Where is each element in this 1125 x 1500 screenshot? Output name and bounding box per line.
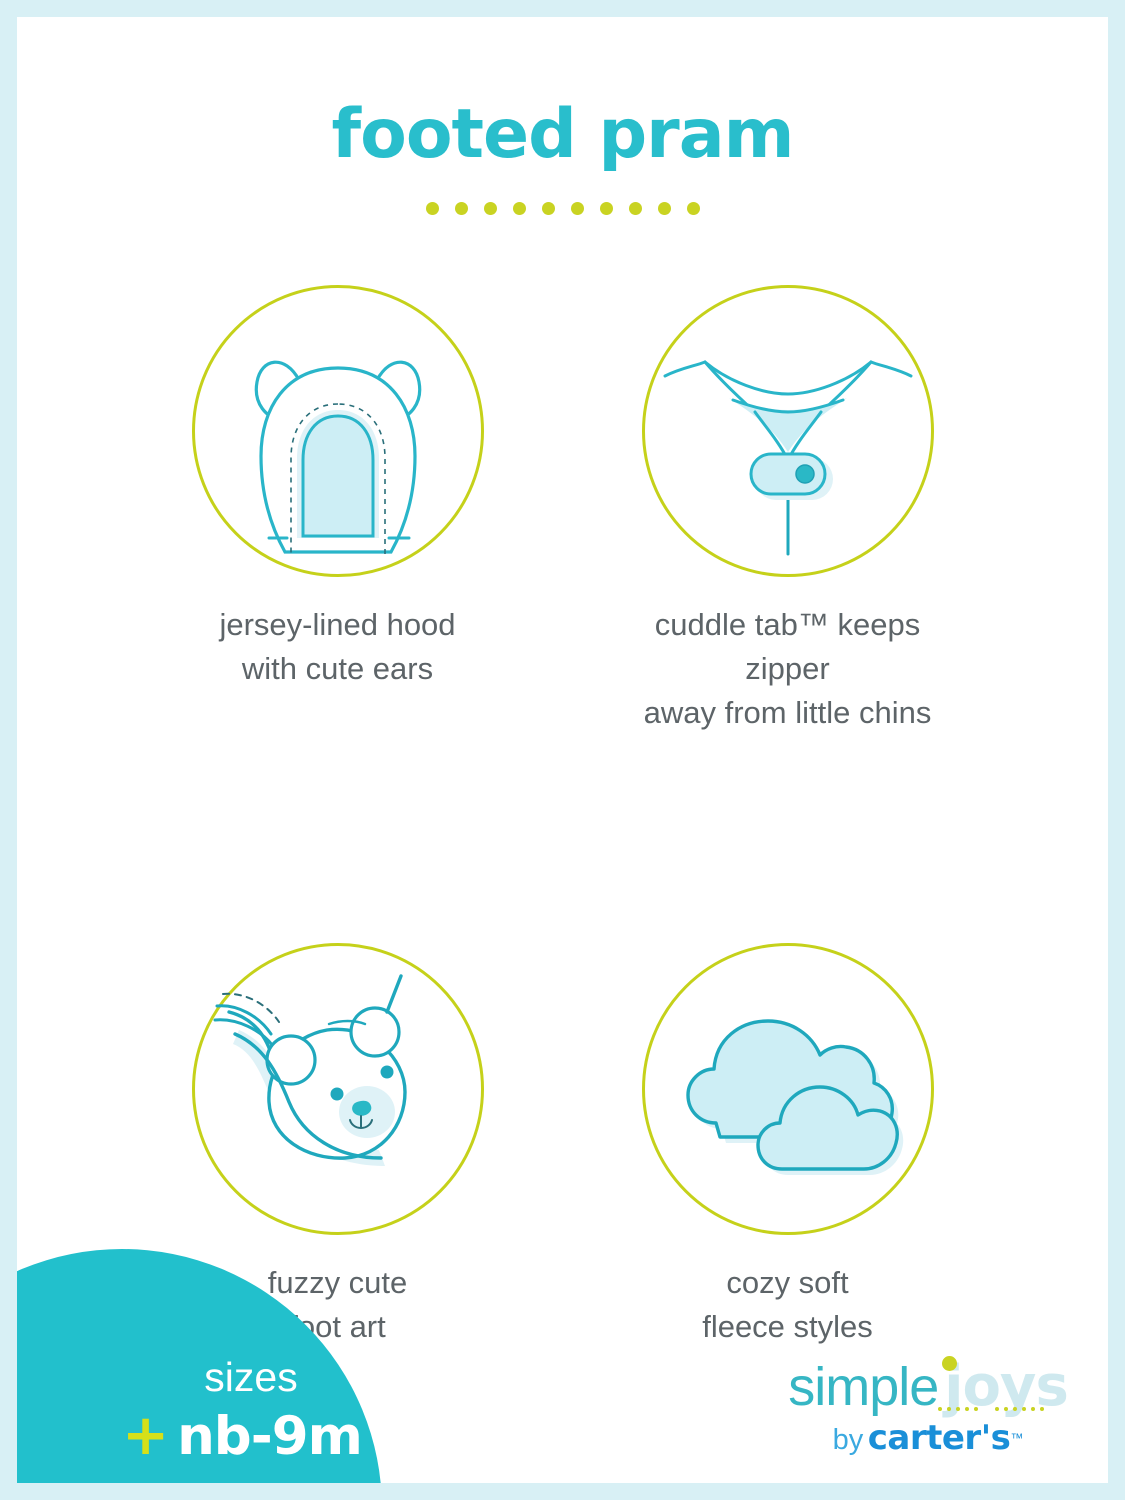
cuddle-tab-collar-icon — [659, 302, 917, 560]
divider-dot — [658, 202, 671, 215]
logo-carters-text: carter's — [868, 1418, 1011, 1458]
title-dot-divider — [17, 202, 1108, 215]
clouds-icon — [670, 989, 906, 1189]
size-badge: sizes + nb-9m — [102, 1357, 382, 1464]
infographic-page: footed pram — [0, 0, 1125, 1500]
divider-dot — [600, 202, 613, 215]
logo-wordmark: simplejoys — [788, 1359, 1068, 1415]
feature-fleece-circle — [642, 943, 934, 1235]
divider-dot — [542, 202, 555, 215]
feature-foot-art-circle — [192, 943, 484, 1235]
feature-hood: jersey-lined hood with cute ears — [178, 285, 498, 735]
divider-dot — [687, 202, 700, 215]
page-title: footed pram — [17, 95, 1108, 174]
size-badge-label: sizes — [102, 1357, 382, 1398]
bear-foot-icon — [209, 960, 467, 1218]
logo-dot-accent — [938, 1407, 1044, 1411]
divider-dot — [484, 202, 497, 215]
size-badge-value-row: + nb-9m — [102, 1408, 382, 1464]
feature-hood-caption: jersey-lined hood with cute ears — [219, 603, 455, 691]
logo-dot-group — [938, 1407, 978, 1411]
divider-dot — [571, 202, 584, 215]
brand-logo: simplejoys by carter's™ — [778, 1359, 1078, 1455]
logo-dot-group — [995, 1407, 1044, 1411]
size-badge-value: nb-9m — [177, 1410, 362, 1463]
feature-fleece: cozy soft fleece styles — [628, 943, 948, 1349]
divider-dot — [455, 202, 468, 215]
plus-icon: + — [122, 1408, 169, 1464]
feature-cuddle-tab: cuddle tab™ keeps zipper away from littl… — [628, 285, 948, 735]
logo-subline: by carter's™ — [778, 1421, 1078, 1455]
logo-simple-text: simple — [788, 1357, 938, 1417]
content-card: footed pram — [17, 17, 1108, 1483]
divider-dot — [629, 202, 642, 215]
trademark-icon: ™ — [1010, 1431, 1023, 1446]
feature-fleece-caption: cozy soft fleece styles — [702, 1261, 873, 1349]
bear-hood-icon — [213, 306, 463, 556]
divider-dot — [426, 202, 439, 215]
feature-hood-circle — [192, 285, 484, 577]
feature-cuddle-tab-circle — [642, 285, 934, 577]
feature-grid: jersey-lined hood with cute ears — [17, 285, 1108, 1349]
feature-cuddle-tab-caption: cuddle tab™ keeps zipper away from littl… — [628, 603, 948, 735]
logo-by-text: by — [833, 1424, 864, 1456]
feature-row-top: jersey-lined hood with cute ears — [17, 285, 1108, 735]
divider-dot — [513, 202, 526, 215]
